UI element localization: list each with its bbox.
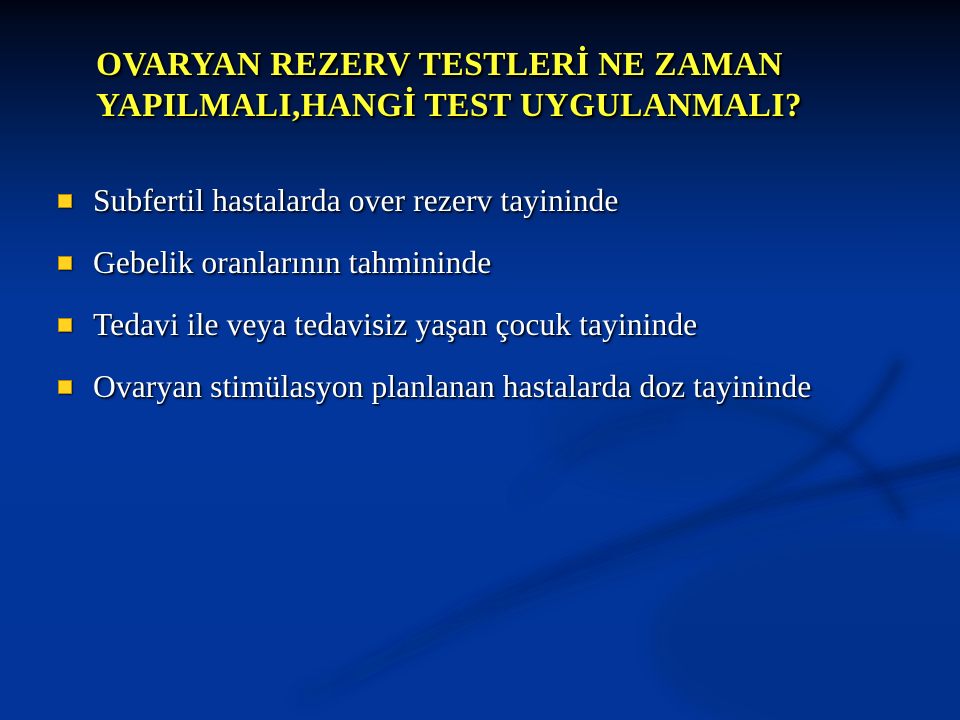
- list-item-label: Ovaryan stimülasyon planlanan hastalarda…: [93, 365, 918, 408]
- slide-title: OVARYAN REZERV TESTLERİ NE ZAMAN YAPILMA…: [96, 44, 896, 126]
- square-bullet-icon: [58, 256, 72, 270]
- title-line-1: OVARYAN REZERV TESTLERİ NE ZAMAN: [96, 44, 896, 85]
- square-bullet-icon: [58, 318, 72, 332]
- list-item-label: Subfertil hastalarda over rezerv tayinin…: [93, 179, 918, 222]
- square-bullet-icon: [58, 380, 72, 394]
- list-item: Tedavi ile veya tedavisiz yaşan çocuk ta…: [58, 303, 918, 346]
- title-line-2: YAPILMALI,HANGİ TEST UYGULANMALI?: [96, 85, 896, 126]
- list-item-label: Gebelik oranlarının tahmininde: [93, 241, 918, 284]
- list-item: Gebelik oranlarının tahmininde: [58, 241, 918, 284]
- list-item: Ovaryan stimülasyon planlanan hastalarda…: [58, 365, 918, 408]
- list-item: Subfertil hastalarda over rezerv tayinin…: [58, 179, 918, 222]
- list-item-label: Tedavi ile veya tedavisiz yaşan çocuk ta…: [93, 303, 918, 346]
- square-bullet-icon: [58, 194, 72, 208]
- presentation-slide: OVARYAN REZERV TESTLERİ NE ZAMAN YAPILMA…: [0, 0, 960, 720]
- slide-body-bullet-list: Subfertil hastalarda over rezerv tayinin…: [58, 179, 918, 427]
